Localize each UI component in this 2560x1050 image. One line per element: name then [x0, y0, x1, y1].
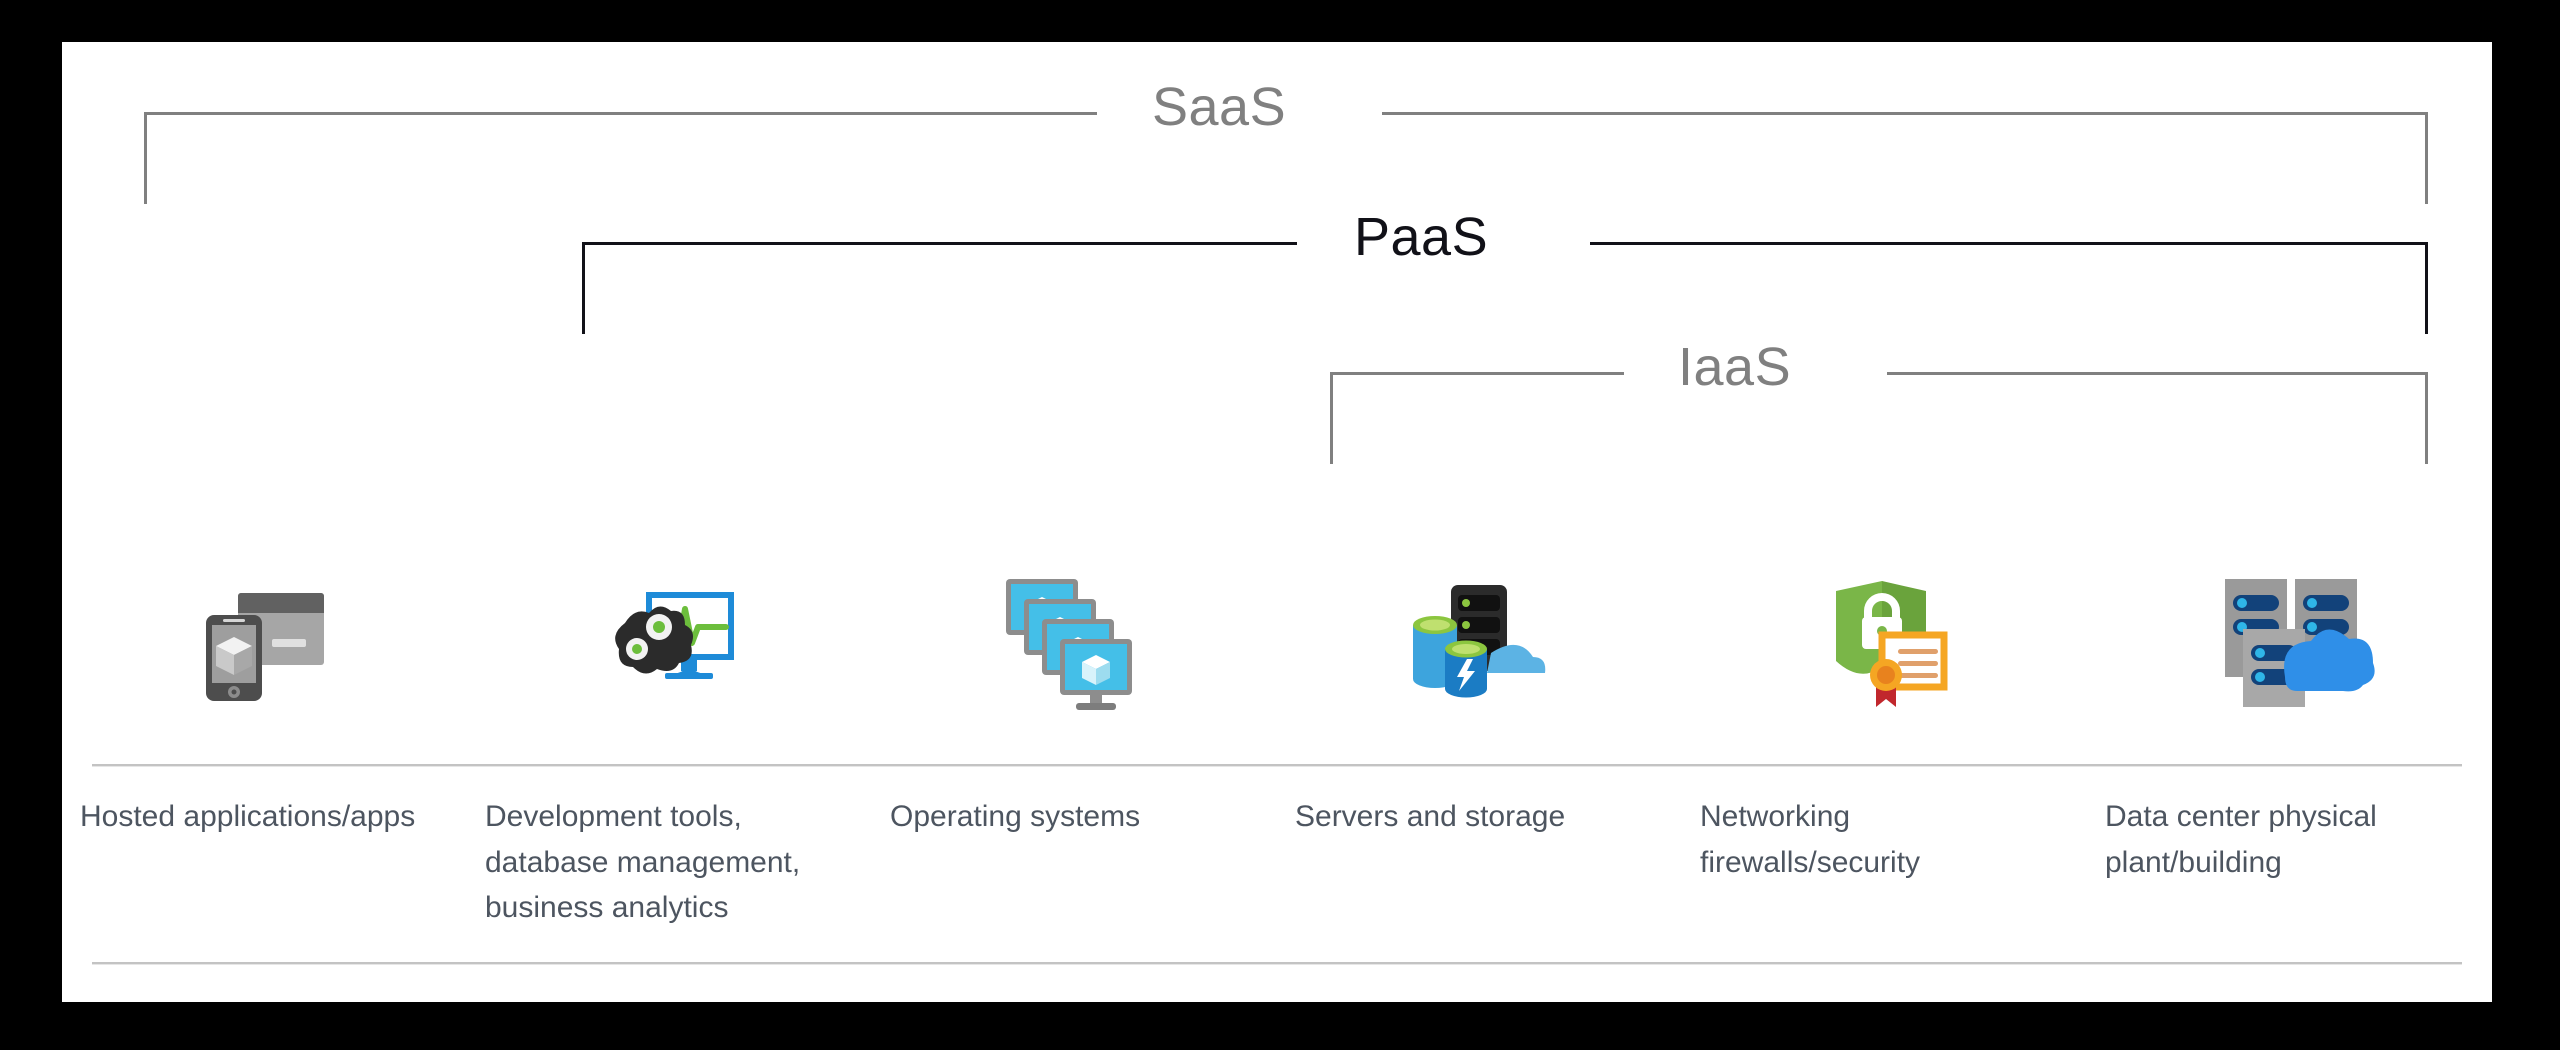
- bracket-paas-right-line: [2425, 242, 2428, 334]
- bracket-iaas-right-line: [2425, 372, 2428, 464]
- caption-cell-development-tools: Development tools, database management, …: [467, 794, 872, 959]
- caption-hosted-applications: Hosted applications/apps: [80, 794, 441, 840]
- caption-cell-networking-security: Networking firewalls/security: [1682, 794, 2087, 959]
- icon-cell-development-tools: [467, 522, 872, 762]
- icon-cell-operating-systems: [872, 522, 1277, 762]
- bracket-saas-right-line: [2425, 112, 2428, 204]
- caption-row: Hosted applications/apps Development too…: [62, 794, 2492, 959]
- caption-cell-operating-systems: Operating systems: [872, 794, 1277, 959]
- caption-operating-systems: Operating systems: [890, 794, 1251, 840]
- bracket-iaas-top-left-line: [1330, 372, 1624, 375]
- servers-and-storage-icon: [1395, 557, 1565, 727]
- operating-systems-vm-stack-icon: [990, 557, 1160, 727]
- bracket-iaas-top-right-line: [1887, 372, 2428, 375]
- hosted-application-phone-icon: [180, 557, 350, 727]
- icon-cell-networking-security: [1682, 522, 2087, 762]
- caption-servers-and-storage: Servers and storage: [1295, 794, 1656, 840]
- development-tools-analytics-icon: [585, 557, 755, 727]
- networking-security-shield-icon: [1800, 557, 1970, 727]
- bracket-paas-label: PaaS: [1354, 210, 1488, 264]
- icon-cell-data-center: [2087, 522, 2492, 762]
- caption-cell-servers-and-storage: Servers and storage: [1277, 794, 1682, 959]
- bracket-paas-left-line: [582, 242, 585, 334]
- caption-development-tools: Development tools, database management, …: [485, 794, 846, 931]
- caption-networking-security: Networking firewalls/security: [1700, 794, 2061, 885]
- bracket-iaas-label: IaaS: [1678, 340, 1791, 394]
- bracket-saas-top-right-line: [1382, 112, 2428, 115]
- bracket-paas-top-left-line: [582, 242, 1297, 245]
- bracket-iaas-left-line: [1330, 372, 1333, 464]
- bracket-saas-label: SaaS: [1152, 80, 1286, 134]
- divider-bottom: [92, 962, 2462, 964]
- icon-cell-hosted-applications: [62, 522, 467, 762]
- bracket-saas-left-line: [144, 112, 147, 204]
- caption-cell-data-center: Data center physical plant/building: [2087, 794, 2492, 959]
- bracket-saas-top-left-line: [144, 112, 1097, 115]
- data-center-building-icon: [2205, 557, 2375, 727]
- bracket-layer: SaaS PaaS IaaS: [62, 42, 2492, 542]
- icon-cell-servers-and-storage: [1277, 522, 1682, 762]
- bracket-paas-top-right-line: [1590, 242, 2428, 245]
- diagram-card: SaaS PaaS IaaS: [62, 42, 2492, 1002]
- caption-cell-hosted-applications: Hosted applications/apps: [62, 794, 467, 959]
- divider-top: [92, 764, 2462, 766]
- icon-row: [62, 522, 2492, 762]
- caption-data-center: Data center physical plant/building: [2105, 794, 2466, 885]
